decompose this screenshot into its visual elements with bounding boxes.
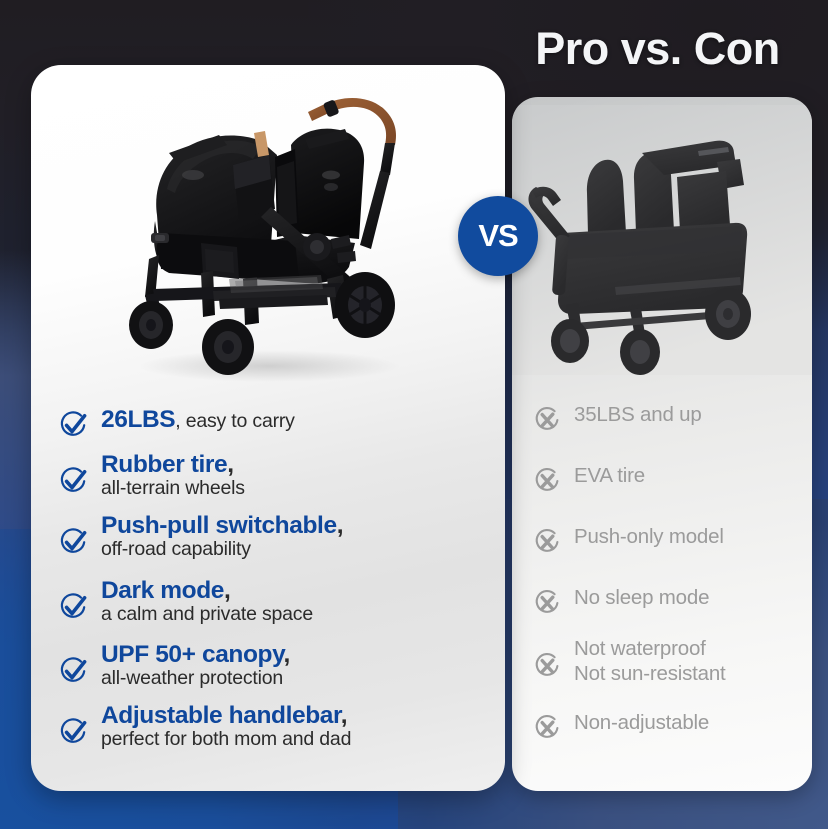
- pro-item-comma: ,: [341, 702, 347, 729]
- con-list-item: 35LBS and up: [532, 403, 812, 440]
- x-circle-icon: [532, 588, 562, 623]
- pro-item-subtext: a calm and private space: [101, 603, 313, 626]
- con-item-text: Non-adjustable: [574, 711, 709, 736]
- pro-item-heading: 26LBS: [101, 406, 175, 433]
- pro-list-item: Dark mode, a calm and private space: [57, 578, 502, 629]
- pro-item-heading-row: 26LBS, easy to carry: [101, 407, 295, 432]
- pro-item-heading: Rubber tire: [101, 451, 227, 478]
- con-item-text-line2: Not sun-resistant: [574, 662, 726, 687]
- x-circle-icon: [532, 527, 562, 562]
- check-circle-icon: [57, 527, 89, 564]
- pro-item-comma: ,: [224, 577, 230, 604]
- con-item-text: EVA tire: [574, 464, 645, 489]
- con-list-item: Push-only model: [532, 525, 812, 562]
- pro-list-item: Rubber tire, all-terrain wheels: [57, 452, 502, 503]
- pro-item-subtext: easy to carry: [180, 410, 294, 432]
- con-list-item: EVA tire: [532, 464, 812, 501]
- pro-list-item: Push-pull switchable, off-road capabilit…: [57, 513, 502, 564]
- pro-item-heading-row: UPF 50+ canopy,: [101, 642, 290, 667]
- page-title: Pro vs. Con: [505, 18, 810, 80]
- pro-card: 26LBS, easy to carry Rubber tire, all-te…: [31, 65, 505, 791]
- grey-wagon-silhouette-photo: [512, 105, 812, 375]
- pro-item-heading-row: Rubber tire,: [101, 452, 245, 477]
- pro-list-item: Adjustable handlebar, perfect for both m…: [57, 703, 502, 754]
- x-circle-icon: [532, 713, 562, 748]
- black-stroller-wagon-photo: [109, 83, 429, 383]
- con-item-text: No sleep mode: [574, 586, 709, 611]
- pro-item-heading: UPF 50+ canopy: [101, 641, 284, 668]
- con-item-text: 35LBS and up: [574, 403, 702, 428]
- pro-item-heading: Adjustable handlebar: [101, 702, 341, 729]
- check-circle-icon: [57, 410, 89, 447]
- pro-item-subtext: off-road capability: [101, 538, 343, 561]
- x-circle-icon: [532, 651, 562, 686]
- pro-item-comma: ,: [337, 512, 343, 539]
- pro-item-heading-row: Push-pull switchable,: [101, 513, 343, 538]
- pro-list-item: UPF 50+ canopy, all-weather protection: [57, 642, 502, 693]
- pro-item-heading: Dark mode: [101, 577, 224, 604]
- check-circle-icon: [57, 592, 89, 629]
- pro-item-comma: ,: [284, 641, 290, 668]
- pro-item-comma: ,: [227, 451, 233, 478]
- pro-item-heading: Push-pull switchable: [101, 512, 337, 539]
- check-circle-icon: [57, 466, 89, 503]
- check-circle-icon: [57, 717, 89, 754]
- pro-item-heading-row: Dark mode,: [101, 578, 313, 603]
- check-circle-icon: [57, 656, 89, 693]
- con-list-item: No sleep mode: [532, 586, 812, 623]
- con-list-item: Not waterproof Not sun-resistant: [532, 637, 812, 686]
- pro-list-item: 26LBS, easy to carry: [57, 407, 502, 447]
- pro-item-subtext: all-weather protection: [101, 667, 290, 690]
- con-list-item: Non-adjustable: [532, 711, 812, 748]
- con-panel: 35LBS and up EVA tire Push-only model: [512, 97, 812, 791]
- vs-badge: VS: [458, 196, 538, 276]
- pro-item-heading-row: Adjustable handlebar,: [101, 703, 351, 728]
- con-item-text-line1: Not waterproof: [574, 637, 726, 662]
- pro-item-subtext: all-terrain wheels: [101, 477, 245, 500]
- con-item-text: Push-only model: [574, 525, 724, 550]
- x-circle-icon: [532, 405, 562, 440]
- vs-badge-label: VS: [478, 218, 517, 254]
- pro-item-subtext: perfect for both mom and dad: [101, 728, 351, 751]
- x-circle-icon: [532, 466, 562, 501]
